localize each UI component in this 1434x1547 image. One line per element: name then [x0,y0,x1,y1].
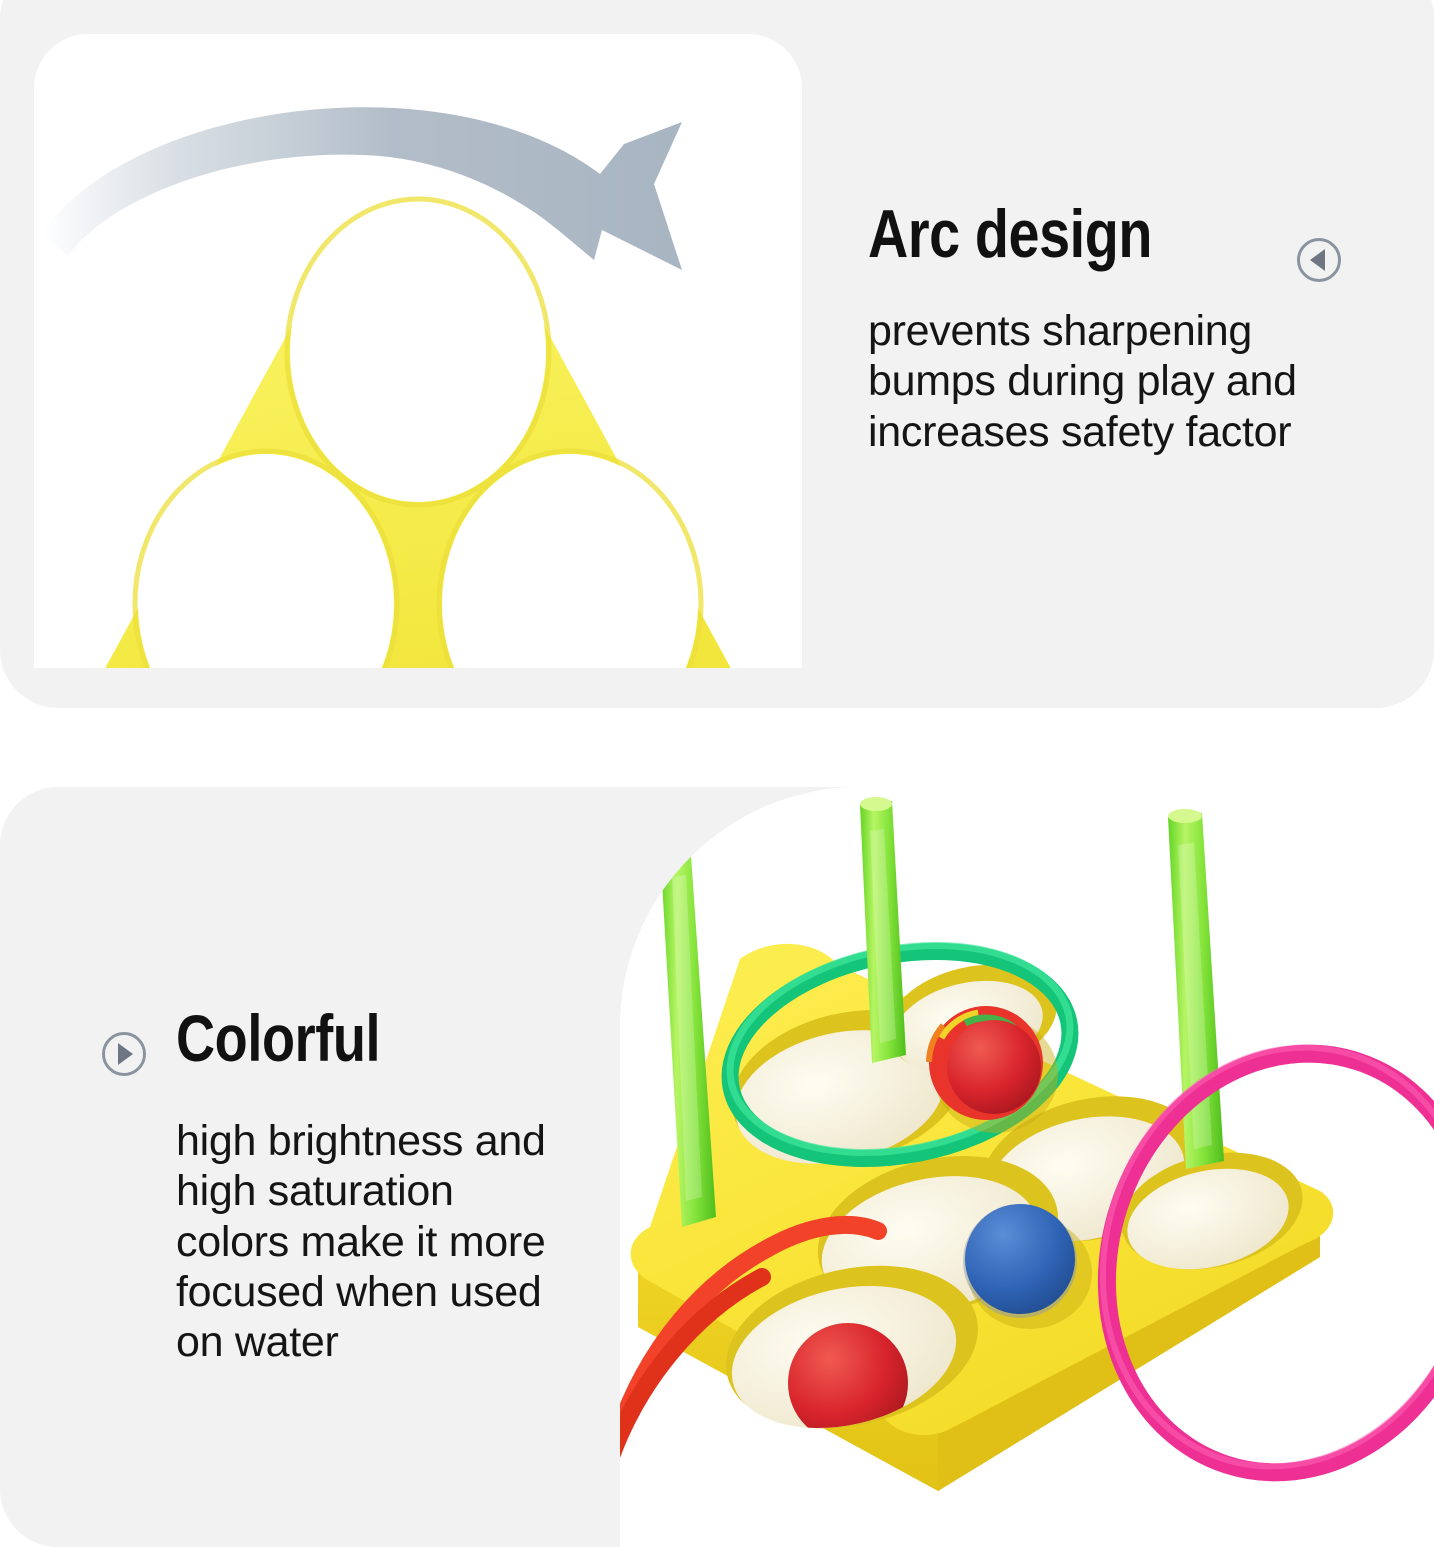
arc-design-illustration [34,34,802,668]
left-triangle-glyph [1310,249,1325,271]
colorful-heading: Colorful [176,1005,504,1071]
colorful-product-photo-card [620,787,1434,1547]
yellow-triangle-board [96,210,740,668]
arc-design-text-block: Arc design prevents sharpening bumps dur… [868,200,1338,457]
circle-right-triangle-icon[interactable] [102,1032,146,1076]
arc-design-body-text: prevents sharpening bumps during play an… [868,306,1338,457]
colorful-text-block: Colorful high brightness and high satura… [176,1005,576,1367]
right-triangle-glyph [118,1043,133,1065]
arc-design-heading: Arc design [868,200,1253,268]
colorful-product-photo [620,787,1434,1547]
colorful-body-text: high brightness and high saturation colo… [176,1116,561,1367]
arc-design-illustration-card [34,34,802,668]
circle-left-triangle-icon[interactable] [1297,238,1341,282]
